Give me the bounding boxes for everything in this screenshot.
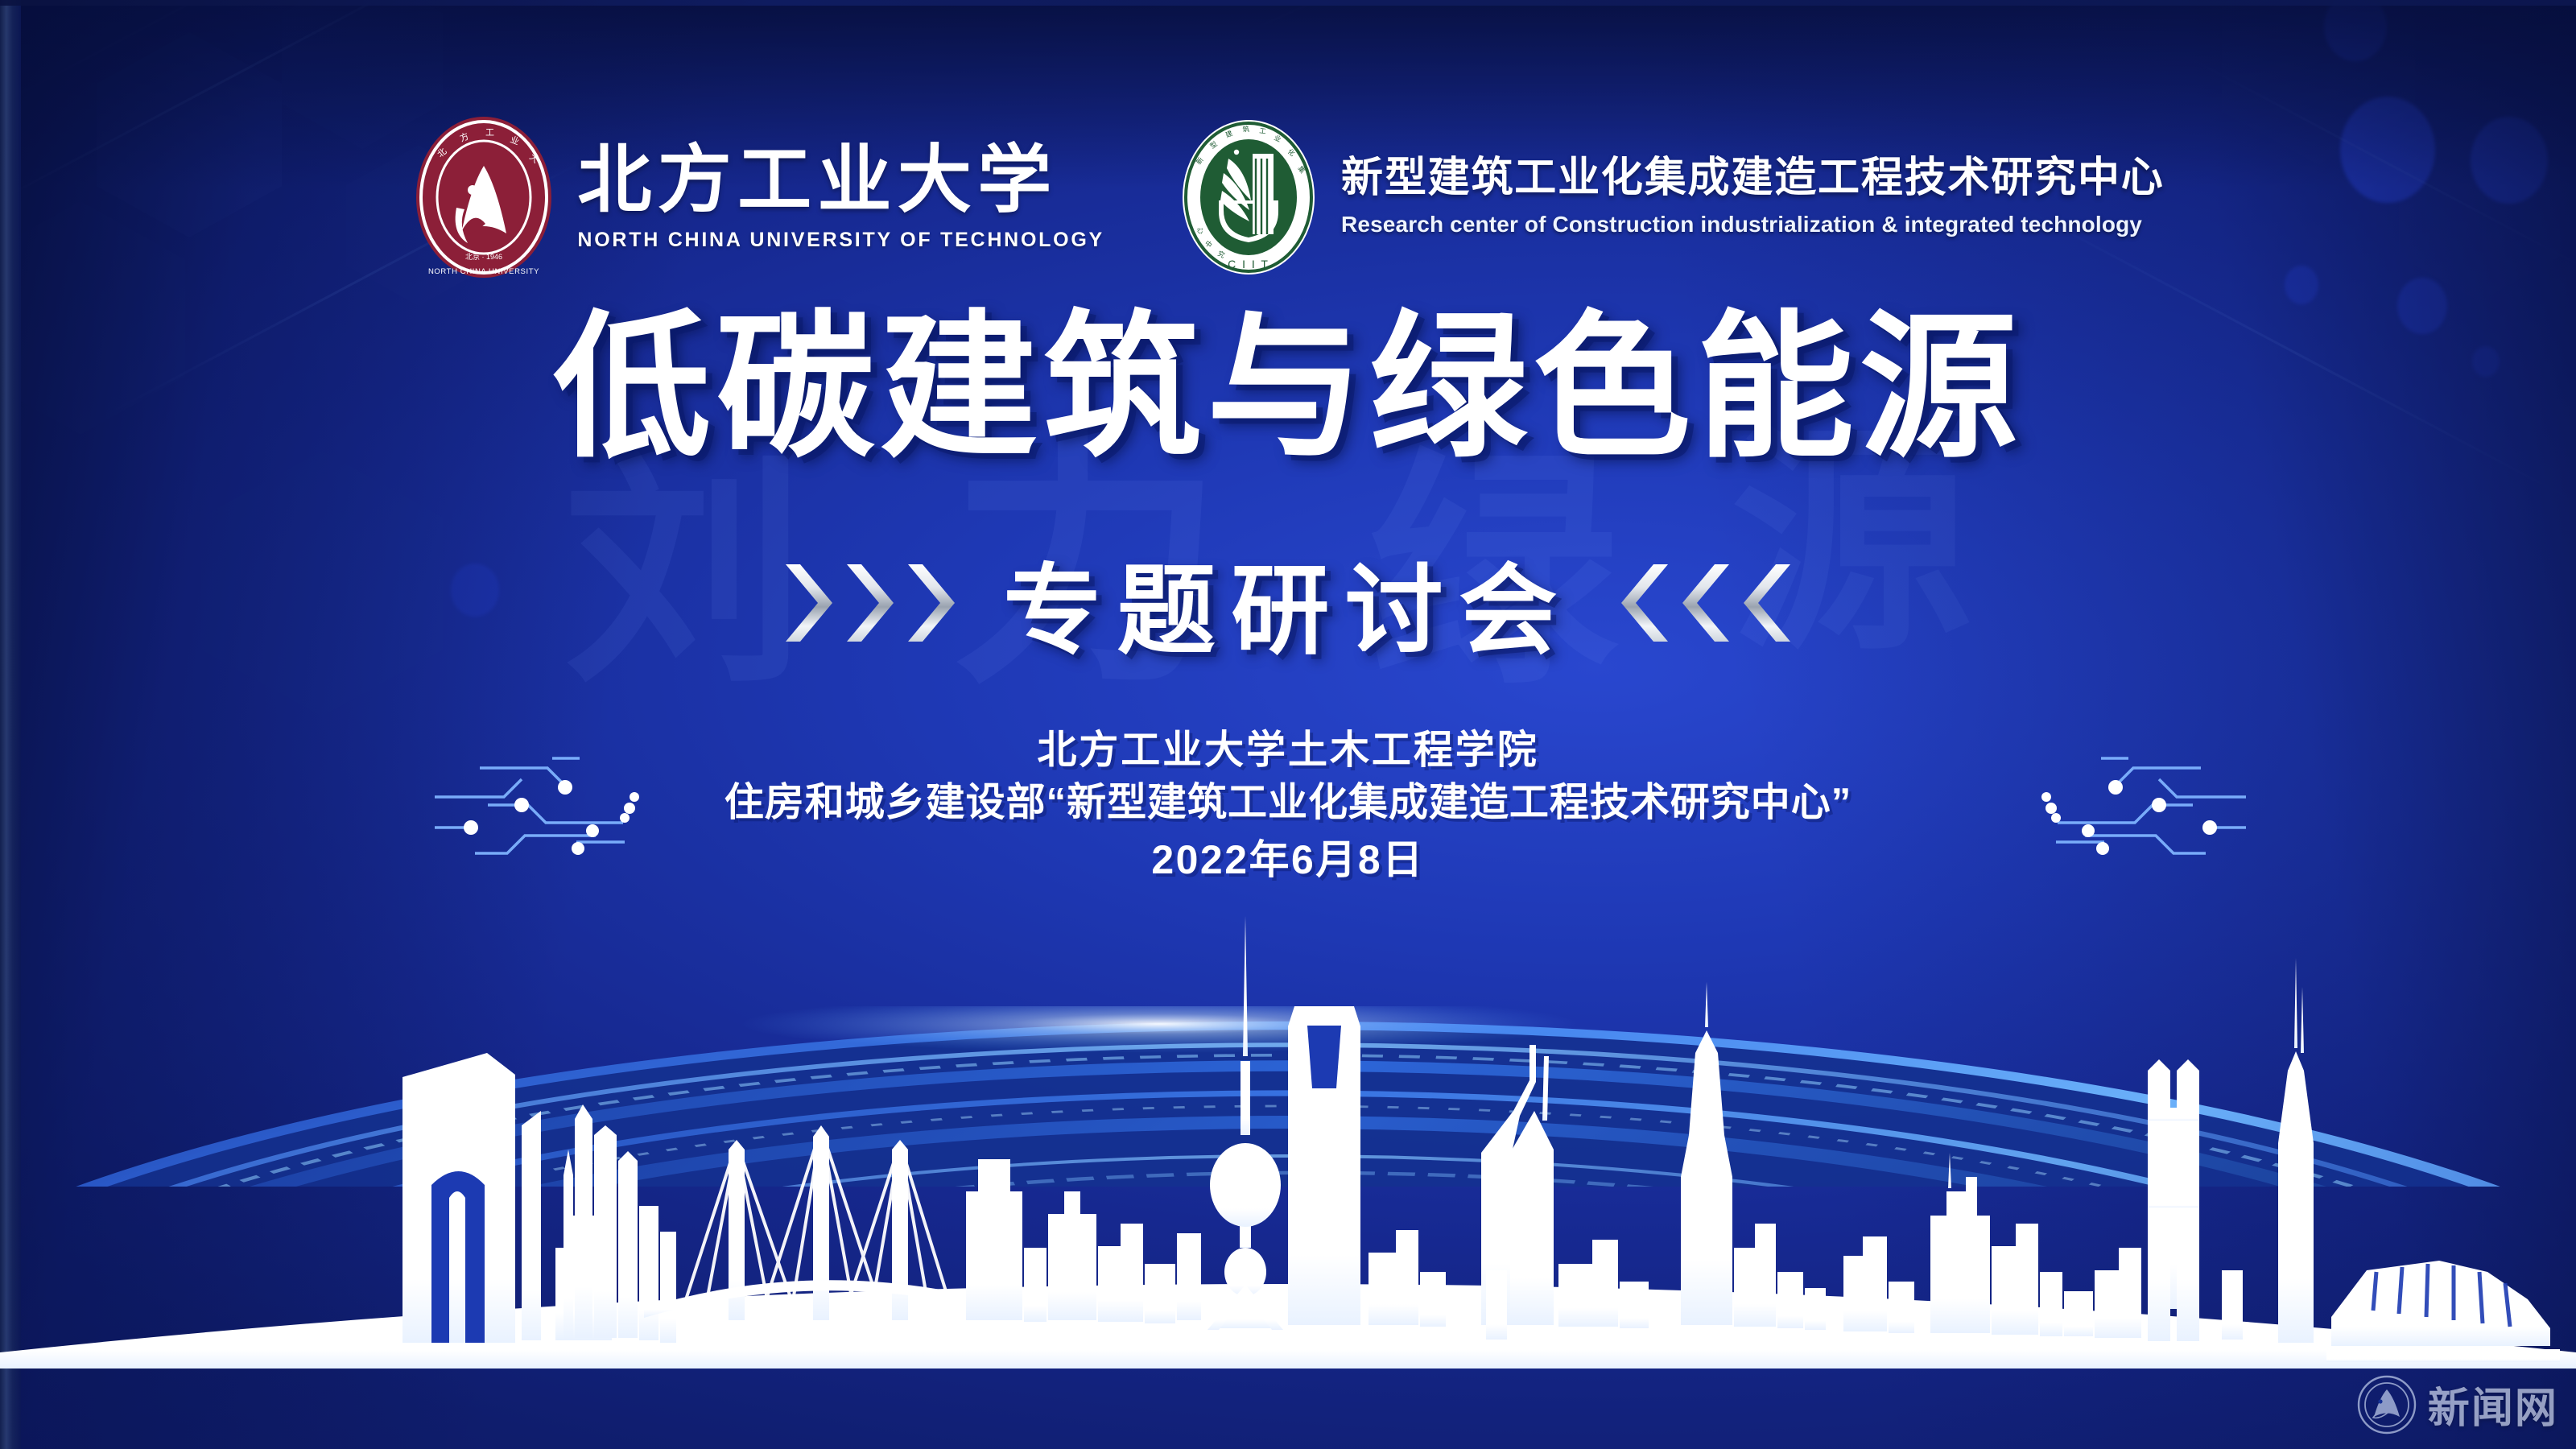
poster-canvas: 刘 力 绿 源 (0, 0, 2576, 1449)
top-edge-strip (0, 0, 2576, 6)
organizer-line-2: 住房和城乡建设部“新型建筑工业化集成建造工程技术研究中心” (0, 777, 2576, 829)
svg-text:工: 工 (485, 128, 494, 138)
svg-text:NORTH CHINA UNIVERSITY: NORTH CHINA UNIVERSITY (428, 267, 539, 276)
university-name-cn: 北方工业大学 (577, 143, 1104, 217)
research-center-name-cn: 新型建筑工业化集成建造工程技术研究中心 (1341, 157, 2165, 199)
event-date: 2022年6月8日 (0, 832, 2576, 888)
ciit-seal-icon: C I I T 新 型 建 筑 工 业 化 集 心 中 究 (1177, 117, 1320, 278)
university-logo-block: 北京 · 1946 NORTH CHINA UNIVERSITY 北 方 工 业… (411, 113, 1104, 282)
chevron-left-triple-icon (1618, 561, 1794, 645)
page-title: 低碳建筑与绿色能源 (0, 304, 2576, 472)
city-skyline-silhouette (0, 869, 2576, 1368)
ncut-seal-icon: 北京 · 1946 NORTH CHINA UNIVERSITY 北 方 工 业… (411, 113, 556, 282)
organizer-line-1: 北方工业大学土木工程学院 (0, 724, 2576, 777)
ncut-seal-watermark-icon (2357, 1375, 2417, 1435)
watermark-text: 新闻网 (2428, 1374, 2558, 1435)
watermark: 新闻网 (2357, 1374, 2558, 1435)
chevron-right-triple-icon (782, 561, 958, 645)
university-name-en: NORTH CHINA UNIVERSITY OF TECHNOLOGY (577, 229, 1104, 252)
subtitle-row: 专题研讨会 (0, 531, 2576, 674)
research-center-logo-block: C I I T 新 型 建 筑 工 业 化 集 心 中 究 新型建筑工业化集成建… (1177, 117, 2165, 278)
research-center-name-en: Research center of Construction industri… (1341, 212, 2165, 237)
header-logos: 北京 · 1946 NORTH CHINA UNIVERSITY 北 方 工 业… (0, 97, 2576, 298)
page-subtitle: 专题研讨会 (1003, 531, 1573, 674)
ciit-seal-abbr: C I I T (1228, 258, 1269, 270)
svg-text:北京 · 1946: 北京 · 1946 (465, 252, 502, 261)
organizer-block: 北方工业大学土木工程学院 住房和城乡建设部“新型建筑工业化集成建造工程技术研究中… (0, 724, 2576, 888)
